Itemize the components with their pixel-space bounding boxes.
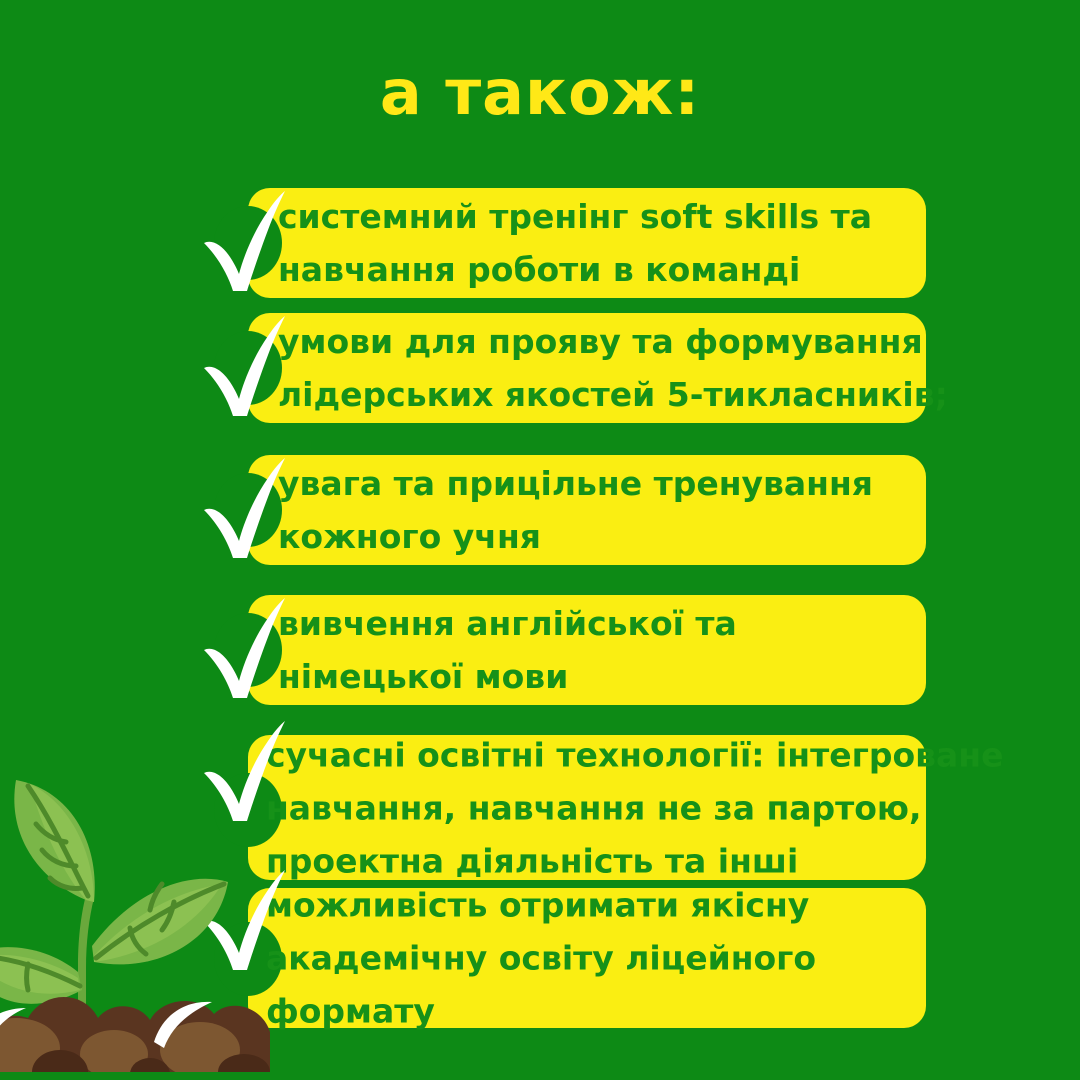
list-item-line: формату: [266, 985, 908, 1038]
list-item-text: вивчення англійської та німецької мови: [278, 597, 908, 703]
list-item-text: умови для прояву та формування лідерськи…: [278, 315, 908, 421]
list-item-line: вивчення англійської та: [278, 597, 908, 650]
list-item-line: умови для прояву та формування: [278, 315, 908, 368]
list-item[interactable]: системний тренінг soft skills та навчанн…: [248, 188, 926, 298]
list-item-line: лідерських якостей 5-тикласників;: [278, 368, 908, 421]
list-item-line: навчання роботи в команді: [278, 243, 908, 296]
list-item[interactable]: сучасні освітні технології: інтегроване …: [248, 735, 926, 880]
list-item[interactable]: вивчення англійської та німецької мови: [248, 595, 926, 705]
list-item-text: можливість отримати якісну академічну ос…: [266, 879, 908, 1038]
list-item-line: системний тренінг soft skills та: [278, 190, 908, 243]
list-item-text: сучасні освітні технології: інтегроване …: [266, 728, 908, 887]
list-item-line: навчання, навчання не за партою,: [266, 781, 908, 834]
list-item-text: системний тренінг soft skills та навчанн…: [278, 190, 908, 296]
list-item[interactable]: можливість отримати якісну академічну ос…: [248, 888, 926, 1028]
sprout-plant-icon: [0, 750, 282, 1080]
bottom-strip: [0, 1072, 1080, 1080]
list-item-line: сучасні освітні технології: інтегроване: [266, 728, 908, 781]
list-item-line: кожного учня: [278, 510, 908, 563]
list-item-line: можливість отримати якісну: [266, 879, 908, 932]
poster-canvas: а також: системний тренінг soft skills т…: [0, 0, 1080, 1080]
card-notch: [214, 613, 282, 687]
list-item-line: німецької мови: [278, 650, 908, 703]
card-notch: [214, 206, 282, 280]
list-item-text: увага та прицільне тренування кожного уч…: [278, 457, 908, 563]
card-notch: [214, 473, 282, 547]
card-notch: [214, 331, 282, 405]
list-item-line: академічну освіту ліцейного: [266, 932, 908, 985]
list-item[interactable]: увага та прицільне тренування кожного уч…: [248, 455, 926, 565]
list-item-line: увага та прицільне тренування: [278, 457, 908, 510]
list-item[interactable]: умови для прояву та формування лідерськи…: [248, 313, 926, 423]
